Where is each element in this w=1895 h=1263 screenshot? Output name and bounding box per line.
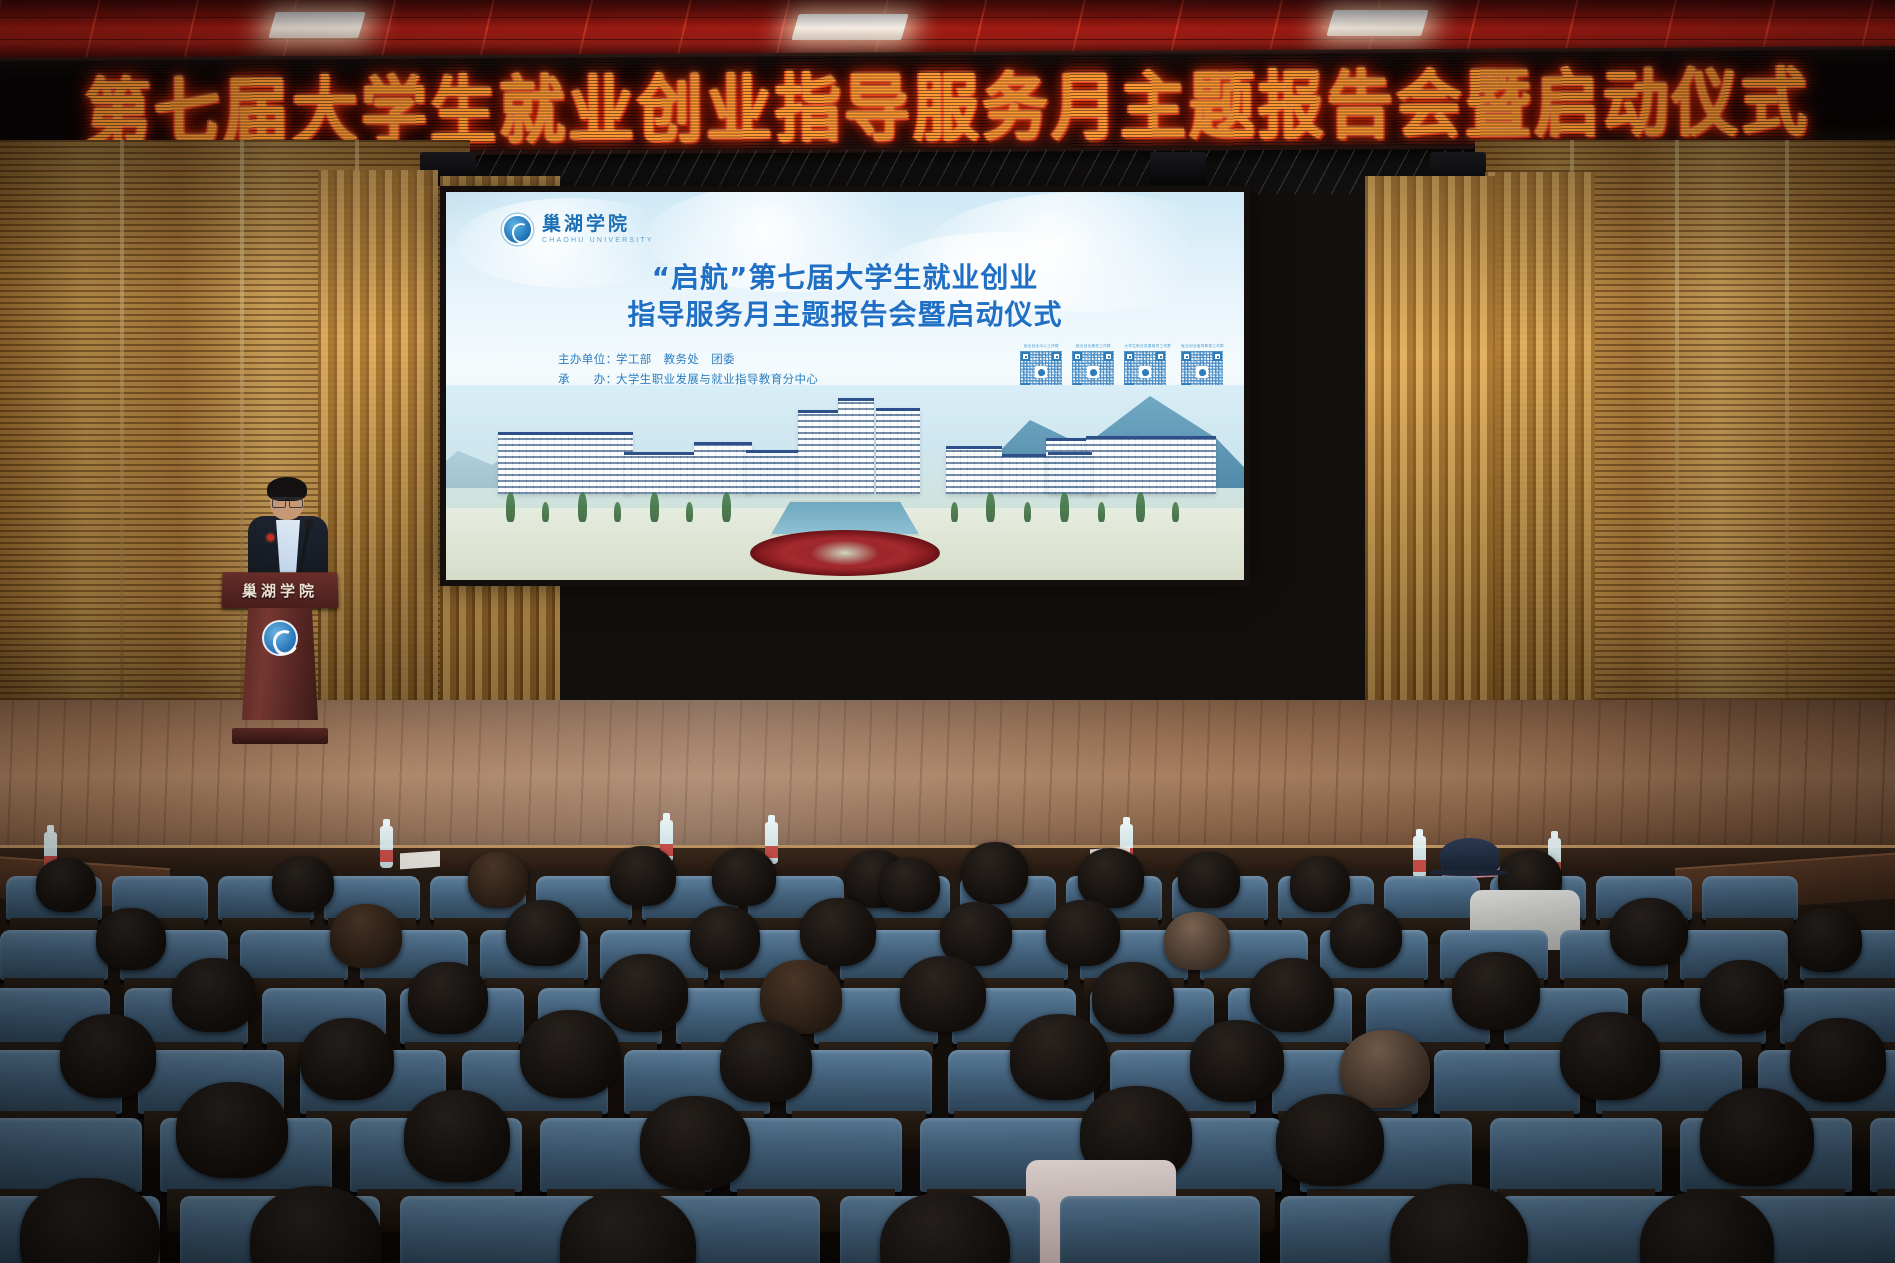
meta-value: 学工部 教务处 团委 <box>616 352 735 366</box>
audience-person-head <box>176 1082 288 1178</box>
audience-person-head <box>1340 1030 1430 1108</box>
auditorium-seat[interactable] <box>1434 1050 1580 1114</box>
auditorium-seat[interactable] <box>1060 1196 1260 1263</box>
audience-person-head <box>300 1018 394 1100</box>
lapel-badge-icon <box>267 534 274 541</box>
auditorium-seat[interactable] <box>0 930 108 980</box>
university-name-cn: 巢湖学院 <box>542 215 654 234</box>
audience-person-head <box>172 958 256 1032</box>
campus-flowerbed-logo <box>750 530 940 576</box>
qr-caption: 就业创业中心工作群 <box>1020 344 1062 349</box>
speaker-box <box>1150 152 1206 186</box>
audience-person-head <box>1190 1020 1284 1102</box>
podium: 巢湖学院 <box>228 572 332 732</box>
podium-base <box>232 728 328 744</box>
audience-person-head <box>600 954 688 1032</box>
meta-value: 大学生职业发展与就业指导教育分中心 <box>616 372 818 386</box>
audience-person-head <box>404 1090 510 1182</box>
audience-person-head <box>1276 1094 1384 1186</box>
audience-person-head <box>962 842 1028 904</box>
audience-person-head <box>506 900 580 966</box>
audience-person-head <box>1790 908 1862 972</box>
stage-curtain-right-outer <box>1485 172 1595 742</box>
presentation-slide: 巢湖学院 CHAOHU UNIVERSITY “启航”第七届大学生就业创业 指导… <box>446 192 1244 580</box>
audience-person-head <box>712 848 776 906</box>
projection-screen-frame: 巢湖学院 CHAOHU UNIVERSITY “启航”第七届大学生就业创业 指导… <box>440 186 1250 586</box>
audience-person-head <box>96 908 166 970</box>
audience-person-head <box>1010 1014 1108 1100</box>
auditorium-seat[interactable] <box>1870 1118 1895 1192</box>
audience-person-head <box>720 1022 812 1102</box>
audience-person-head <box>272 856 334 912</box>
audience-person-head <box>640 1096 750 1190</box>
podium-top: 巢湖学院 <box>221 572 338 608</box>
audience-person-head <box>36 858 96 912</box>
university-emblem-icon <box>502 214 533 245</box>
audience-person-head <box>1092 962 1174 1034</box>
qr-caption: 就业创业指导教育工作群 <box>1181 344 1224 349</box>
audience-person-head <box>330 904 402 968</box>
auditorium-seat[interactable] <box>1384 876 1480 920</box>
audience-person-head <box>610 846 676 906</box>
audience-person-head <box>1164 912 1230 970</box>
baseball-cap <box>1440 838 1500 872</box>
audience-person-head <box>468 852 528 908</box>
meta-row-organizer: 主办单位：学工部 教务处 团委 <box>558 350 818 370</box>
audience-person-head <box>1560 1012 1660 1100</box>
audience-person-head <box>1178 852 1240 908</box>
university-name-en: CHAOHU UNIVERSITY <box>542 237 654 244</box>
slide-title: “启航”第七届大学生就业创业 指导服务月主题报告会暨启动仪式 <box>446 260 1244 334</box>
auditorium-seat[interactable] <box>1490 1118 1662 1192</box>
auditorium-seat[interactable] <box>730 1118 902 1192</box>
audience-person-head <box>690 906 760 970</box>
audience-person-head <box>1250 958 1334 1032</box>
slide-university-logo: 巢湖学院 CHAOHU UNIVERSITY <box>502 214 654 245</box>
qr-caption: 大学生职业发展指导工作群 <box>1124 344 1171 349</box>
audience-person-head <box>880 858 940 912</box>
auditorium-seat[interactable] <box>1702 876 1798 920</box>
meta-label: 主办单位： <box>558 350 616 370</box>
auditorium-scene: 第七届大学生就业创业指导服务月主题报告会暨启动仪式 巢湖学院 CHAOHU UN… <box>0 0 1895 1263</box>
audience-person-head <box>1700 1088 1814 1186</box>
audience-person-head <box>800 898 876 966</box>
audience-person-head <box>1452 952 1540 1030</box>
audience-person-head <box>1330 904 1402 968</box>
stage-curtain-right <box>1365 176 1495 776</box>
audience-person-head <box>1700 960 1784 1034</box>
audience-person-head <box>900 956 986 1032</box>
slide-title-line1: “启航”第七届大学生就业创业 <box>446 260 1244 297</box>
audience-person-head <box>1290 856 1350 912</box>
audience-person-head <box>1046 900 1120 966</box>
audience-person-head <box>520 1010 620 1098</box>
qr-caption: 就业创业服务工作群 <box>1072 344 1114 349</box>
audience-person-head <box>1078 848 1144 908</box>
speaker-person <box>248 480 328 580</box>
podium-name-plate: 巢湖学院 <box>242 580 318 601</box>
document-paper <box>400 851 440 870</box>
stage-curtain-left-outer <box>318 170 438 730</box>
campus-panorama-image <box>446 385 1244 580</box>
glasses-icon <box>272 497 303 504</box>
audience-person-head <box>60 1014 156 1098</box>
slide-title-line2: 指导服务月主题报告会暨启动仪式 <box>446 297 1244 334</box>
audience-person-head <box>408 962 488 1034</box>
water-bottle <box>380 826 393 868</box>
audience-person-head <box>1790 1018 1886 1102</box>
audience-person-head <box>1610 898 1688 966</box>
water-bottle <box>1413 836 1426 878</box>
podium-university-emblem-icon <box>262 620 298 656</box>
